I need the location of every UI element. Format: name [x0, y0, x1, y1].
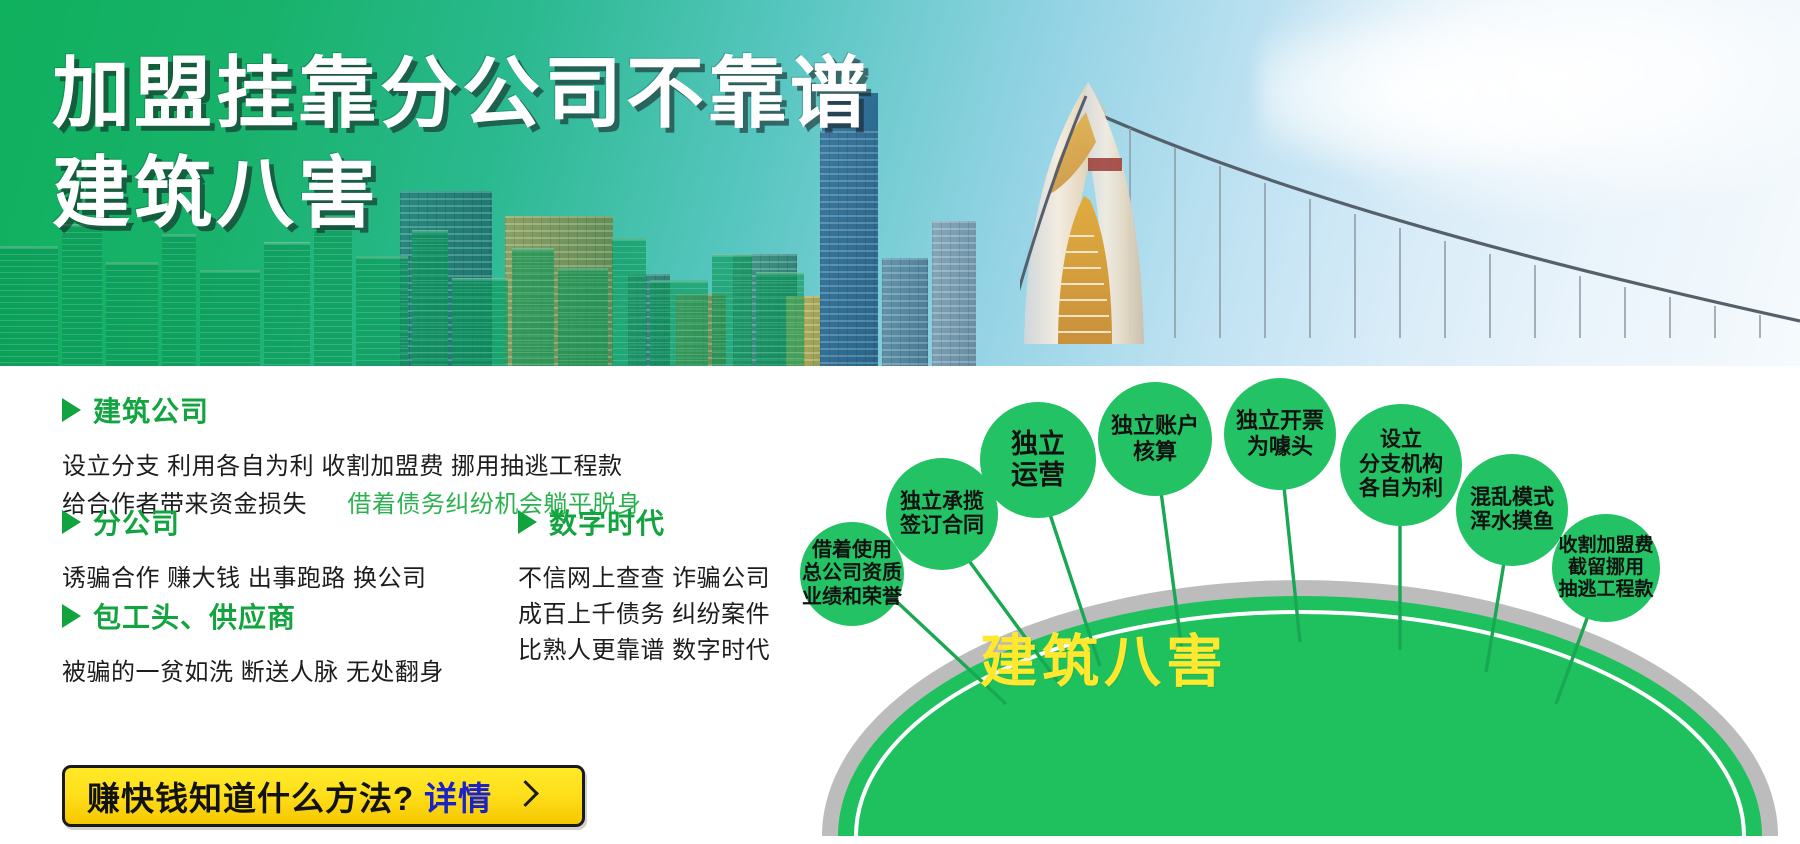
bubble-chaotic-mode[interactable]: 混乱模式 浑水摸鱼 — [1456, 454, 1568, 566]
bubble-independent-operation[interactable]: 独立 运营 — [980, 402, 1096, 518]
bubble-line: 借着使用 — [802, 539, 902, 562]
bubble-line: 收割加盟费 — [1558, 535, 1653, 557]
bubble-harvest-fee[interactable]: 收割加盟费 截留挪用 抽逃工程款 — [1552, 514, 1660, 622]
section-line: 比熟人更靠谱 数字时代 — [518, 634, 770, 668]
building-blue-1 — [882, 258, 928, 366]
bubble-line: 分支机构 — [1359, 453, 1443, 477]
bubble-line: 各自为利 — [1359, 477, 1443, 501]
section-line: 成百上千债务 纠纷案件 — [518, 598, 770, 632]
hero-title-line1: 加盟挂靠分公司不靠谱 — [52, 54, 872, 132]
hero-title: 加盟挂靠分公司不靠谱 建筑八害 — [52, 54, 872, 232]
hero-banner: 加盟挂靠分公司不靠谱 建筑八害 — [0, 0, 1800, 366]
bubble-line: 独立账户 — [1111, 413, 1199, 439]
hero-title-line2: 建筑八害 — [52, 154, 872, 232]
bubble-line: 截留挪用 — [1558, 557, 1653, 579]
section-line: 诱骗合作 赚大钱 出事跑路 换公司 — [62, 562, 427, 596]
triangle-bullet-icon — [62, 398, 81, 422]
section-title: 包工头、供应商 — [93, 596, 296, 636]
section-header: 数字时代 — [518, 502, 770, 542]
section-title: 分公司 — [93, 502, 180, 542]
bubble-line: 混乱模式 — [1470, 486, 1554, 510]
bubble-line: 浑水摸鱼 — [1470, 510, 1554, 534]
cta-detail-link[interactable]: 详情 — [424, 772, 492, 820]
bubble-line: 核算 — [1111, 439, 1199, 465]
bubble-line: 抽逃工程款 — [1558, 579, 1653, 601]
section-header: 分公司 — [62, 502, 427, 542]
bubble-line: 独立 — [1011, 429, 1065, 460]
bubble-independent-account[interactable]: 独立账户 核算 — [1098, 382, 1212, 496]
section-header: 包工头、供应商 — [62, 596, 444, 636]
cta-button[interactable]: 赚快钱知道什么方法? 详情 — [62, 765, 585, 827]
building-blue-2 — [932, 221, 976, 366]
triangle-bullet-icon — [518, 510, 537, 534]
bubble-independent-invoice[interactable]: 独立开票 为噱头 — [1224, 378, 1336, 490]
section-contractor-supplier: 包工头、供应商 被骗的一贫如洗 断送人脉 无处翻身 — [62, 596, 444, 690]
bubble-line: 独立开票 — [1236, 408, 1324, 434]
section-branch-company: 分公司 诱骗合作 赚大钱 出事跑路 换公司 — [62, 502, 427, 596]
section-title: 数字时代 — [549, 502, 665, 542]
section-digital-era: 数字时代 不信网上查查 诈骗公司 成百上千债务 纠纷案件 比熟人更靠谱 数字时代 — [518, 502, 770, 668]
dome-center-label: 建筑八害 — [980, 616, 1228, 698]
bubble-line: 总公司资质 — [802, 562, 902, 585]
section-title: 建筑公司 — [93, 390, 209, 430]
section-line: 不信网上查查 诈骗公司 — [518, 562, 770, 596]
bubble-line: 独立承揽 — [900, 490, 984, 514]
bubble-setup-branch[interactable]: 设立 分支机构 各自为利 — [1340, 404, 1462, 526]
cta-question-label: 赚快钱知道什么方法? — [87, 772, 414, 820]
bubble-use-hq-qualification[interactable]: 借着使用 总公司资质 业绩和荣誉 — [800, 522, 904, 626]
triangle-bullet-icon — [62, 510, 81, 534]
bubble-line: 设立 — [1359, 428, 1443, 452]
bubble-line: 为噱头 — [1236, 434, 1324, 460]
section-line: 设立分支 利用各自为利 收割加盟费 挪用抽逃工程款 — [62, 450, 641, 484]
diagram-panel: 建筑八害 借着使用 总公司资质 业绩和荣誉 独立承揽 签订合同 独立 运营 独立… — [800, 366, 1800, 844]
bubble-line: 业绩和荣誉 — [802, 586, 902, 609]
triangle-bullet-icon — [62, 604, 81, 628]
poster-root: 加盟挂靠分公司不靠谱 建筑八害 建筑公司 设立分支 利用各自为利 收割加盟费 挪… — [0, 0, 1800, 844]
section-header: 建筑公司 — [62, 390, 641, 430]
bubble-line: 签订合同 — [900, 514, 984, 538]
section-line: 被骗的一贫如洗 断送人脉 无处翻身 — [62, 656, 444, 690]
chevron-right-icon — [516, 781, 536, 811]
bubble-line: 运营 — [1011, 460, 1065, 491]
liede-bridge-illustration — [1020, 66, 1800, 366]
